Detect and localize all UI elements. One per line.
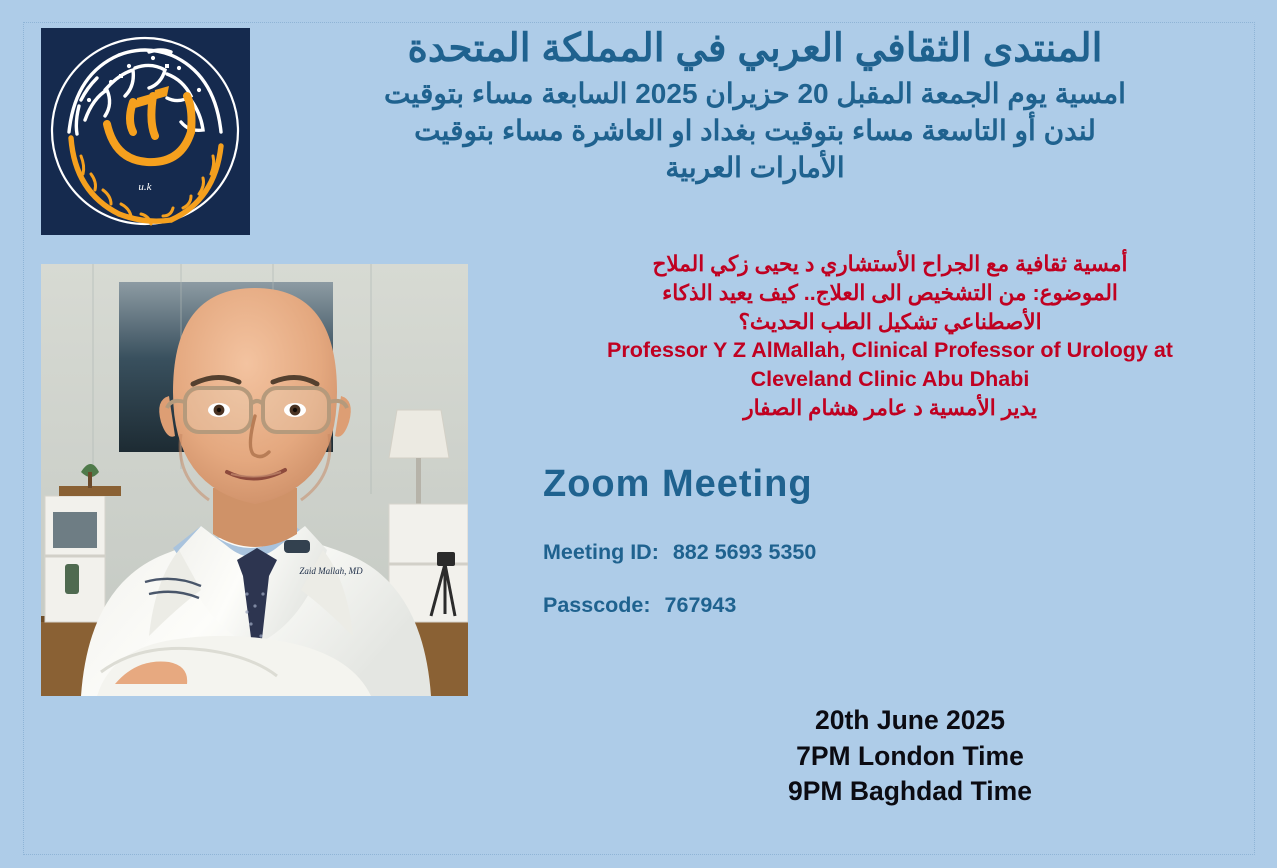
- speaker-title-line-1: Professor Y Z AlMallah, Clinical Profess…: [520, 336, 1260, 365]
- topic-line-2: الأصطناعي تشكيل الطب الحديث؟: [520, 308, 1260, 337]
- speaker-portrait-image: Zaid Mallah, MD: [41, 264, 468, 696]
- schedule-block: 20th June 2025 7PM London Time 9PM Baghd…: [700, 703, 1120, 810]
- speaker-intro-line: أمسية ثقافية مع الجراح الأستشاري د يحيى …: [520, 250, 1260, 279]
- schedule-date: 20th June 2025: [700, 703, 1120, 739]
- header-subline-1: امسية يوم الجمعة المقبل 20 حزيران 2025 ا…: [256, 76, 1254, 113]
- meeting-id-row: Meeting ID: 882 5693 5350: [543, 540, 816, 566]
- speaker-details-block: أمسية ثقافية مع الجراح الأستشاري د يحيى …: [520, 250, 1260, 423]
- logo-sub-text: u.k: [138, 181, 152, 193]
- passcode-label: Passcode:: [543, 593, 651, 617]
- meeting-id-label: Meeting ID:: [543, 540, 659, 564]
- header-subline-2: لندن أو التاسعة مساء بتوقيت بغداد او الع…: [256, 113, 1254, 150]
- organisation-title: المنتدى الثقافي العربي في المملكة المتحد…: [256, 23, 1254, 76]
- speaker-portrait: Zaid Mallah, MD: [41, 264, 468, 696]
- meeting-id-value[interactable]: 882 5693 5350: [673, 540, 816, 564]
- logo-artwork: u.k: [41, 28, 250, 235]
- coat-badge-text: Zaid Mallah, MD: [299, 566, 363, 576]
- moderator-line: يدير الأمسية د عامر هشام الصفار: [520, 394, 1260, 423]
- zoom-meeting-heading: Zoom Meeting: [543, 464, 816, 506]
- passcode-value[interactable]: 767943: [665, 593, 737, 617]
- passcode-row: Passcode: 767943: [543, 593, 816, 619]
- poster-header: u.k المنتدى الثقافي العربي في المملكة ال…: [24, 23, 1254, 235]
- header-subline-3: الأمارات العربية: [256, 150, 1254, 187]
- header-text-block: المنتدى الثقافي العربي في المملكة المتحد…: [256, 23, 1254, 187]
- speaker-title-line-2: Cleveland Clinic Abu Dhabi: [520, 365, 1260, 394]
- arabic-cultural-forum-logo: u.k: [41, 28, 250, 235]
- zoom-meeting-block: Zoom Meeting Meeting ID: 882 5693 5350 P…: [543, 464, 816, 645]
- topic-line-1: الموضوع: من التشخيص الى العلاج.. كيف يعي…: [520, 279, 1260, 308]
- schedule-time-london: 7PM London Time: [700, 739, 1120, 775]
- schedule-time-baghdad: 9PM Baghdad Time: [700, 774, 1120, 810]
